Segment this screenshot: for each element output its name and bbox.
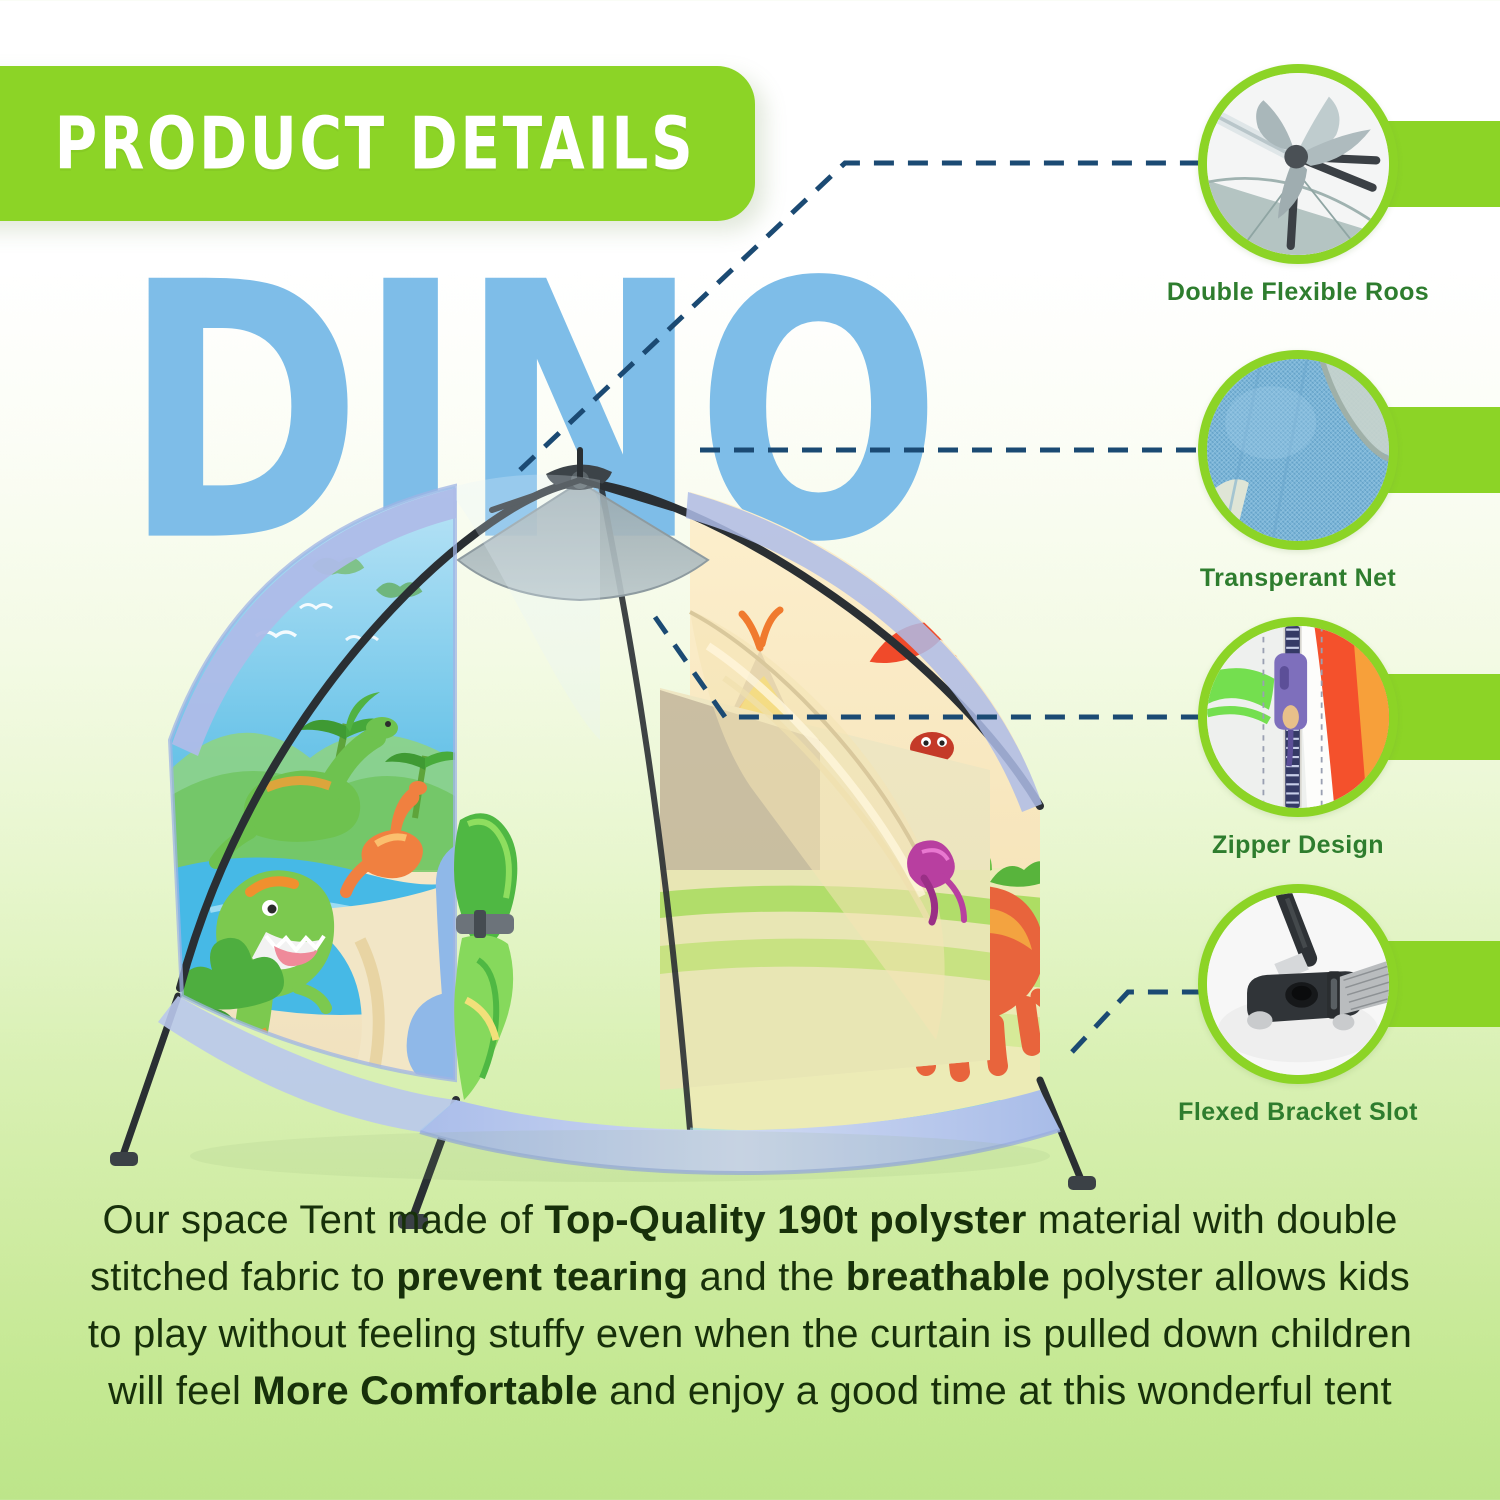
product-description-paragraph: Our space Tent made of Top-Quality 190t … xyxy=(70,1192,1430,1420)
description-text: Our space Tent made of xyxy=(102,1198,544,1242)
connector-line-bracket xyxy=(1072,992,1210,1052)
feature-label: Transperant Net xyxy=(1148,564,1448,593)
feature-circle-ring xyxy=(1198,884,1398,1084)
infographic-canvas: DINO xyxy=(0,0,1500,1500)
feature-label: Double Flexible Roos xyxy=(1148,278,1448,307)
description-text: and enjoy a good time at this wonderful … xyxy=(598,1369,1392,1413)
feature-circle-ring xyxy=(1198,350,1398,550)
zipper-photo xyxy=(1207,626,1389,808)
connector-line-zipper xyxy=(655,617,1210,717)
description-text: and the xyxy=(688,1255,845,1299)
description-emphasis: Top-Quality 190t polyster xyxy=(544,1198,1026,1242)
bracket-slot-photo xyxy=(1207,893,1389,1075)
connector-line-roof xyxy=(520,163,1210,470)
description-emphasis: breathable xyxy=(846,1255,1050,1299)
feature-circle-ring xyxy=(1198,64,1398,264)
tent-pole-hub-photo xyxy=(1207,73,1389,255)
feature-label: Zipper Design xyxy=(1148,831,1448,860)
description-emphasis: More Comfortable xyxy=(252,1369,597,1413)
description-emphasis: prevent tearing xyxy=(396,1255,688,1299)
feature-label: Flexed Bracket Slot xyxy=(1148,1098,1448,1127)
mesh-fabric-photo xyxy=(1207,359,1389,541)
feature-circle-ring xyxy=(1198,617,1398,817)
